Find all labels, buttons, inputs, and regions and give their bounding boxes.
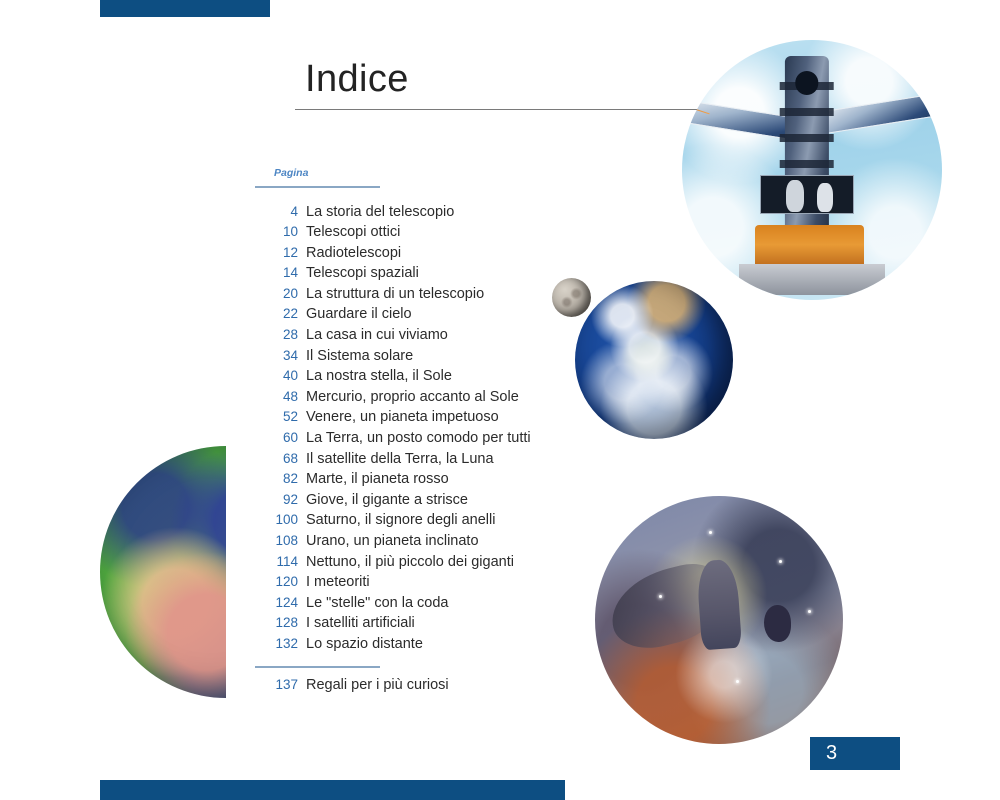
nebula-star-4 [808, 610, 811, 613]
toc-page-number: 68 [255, 451, 298, 466]
toc-entry-title: Regali per i più curiosi [306, 677, 449, 693]
toc-row[interactable]: 12Radiotelescopi [255, 245, 585, 266]
toc-entry-title: I meteoriti [306, 574, 370, 590]
toc-row[interactable]: 132Lo spazio distante [255, 636, 585, 657]
toc-row[interactable]: 60La Terra, un posto comodo per tutti [255, 430, 585, 451]
toc-page-number: 100 [255, 512, 298, 527]
page-title: Indice [305, 60, 409, 98]
toc-page-number: 12 [255, 245, 298, 260]
toc-entry-title: Telescopi spaziali [306, 265, 419, 281]
nebula-pillar [696, 559, 742, 651]
toc-row[interactable]: 40La nostra stella, il Sole [255, 368, 585, 389]
hubble-ring-4 [780, 160, 835, 169]
page-number-badge: 3 [810, 737, 900, 770]
toc-page-number: 22 [255, 306, 298, 321]
toc-page-number: 132 [255, 636, 298, 651]
toc-entry-title: La casa in cui viviamo [306, 327, 448, 343]
hubble-ring-2 [780, 108, 835, 117]
toc-entry-title: Telescopi ottici [306, 224, 400, 240]
toc-page-number: 82 [255, 471, 298, 486]
toc-page-number: 14 [255, 265, 298, 280]
moon-photo [552, 278, 591, 317]
hubble-shuttle-bay [739, 264, 885, 295]
toc-row[interactable]: 22Guardare il cielo [255, 306, 585, 327]
toc-page-number: 128 [255, 615, 298, 630]
toc-entry-title: I satelliti artificiali [306, 615, 415, 631]
nebula-star-1 [709, 531, 712, 534]
toc-row[interactable]: 10Telescopi ottici [255, 224, 585, 245]
hubble-space-telescope-photo [682, 40, 942, 300]
nebula-dark-globule [764, 605, 791, 642]
nebula-star-2 [779, 560, 782, 563]
toc-page-number: 60 [255, 430, 298, 445]
toc-entry-title: Guardare il cielo [306, 306, 412, 322]
toc-page-number: 28 [255, 327, 298, 342]
toc-row[interactable]: 34Il Sistema solare [255, 348, 585, 369]
astronaut-figure-b [817, 183, 833, 212]
toc-page-number: 34 [255, 348, 298, 363]
toc-row[interactable]: 20La struttura di un telescopio [255, 286, 585, 307]
toc-page-number: 120 [255, 574, 298, 589]
toc-row[interactable]: 120I meteoriti [255, 574, 585, 595]
hubble-panel-highlight [682, 103, 709, 114]
toc-entry-title: Le "stelle" con la coda [306, 595, 449, 611]
toc-entry-title: Marte, il pianeta rosso [306, 471, 449, 487]
toc-row[interactable]: 128I satelliti artificiali [255, 615, 585, 636]
toc-entry-title: Urano, un pianeta inclinato [306, 533, 479, 549]
hubble-cargo-bay [755, 225, 864, 269]
table-of-contents: Pagina 4La storia del telescopio10Telesc… [255, 168, 585, 697]
toc-row[interactable]: 108Urano, un pianeta inclinato [255, 533, 585, 554]
toc-page-number: 4 [255, 204, 298, 219]
nebula-photo [595, 496, 843, 744]
toc-row[interactable]: 48Mercurio, proprio accanto al Sole [255, 389, 585, 410]
toc-entry-title: Venere, un pianeta impetuoso [306, 409, 499, 425]
toc-row[interactable]: 4La storia del telescopio [255, 204, 585, 225]
earth-photo [575, 281, 733, 439]
toc-entry-title: La Terra, un posto comodo per tutti [306, 430, 531, 446]
page-column-rule [255, 186, 380, 188]
toc-row[interactable]: 28La casa in cui viviamo [255, 327, 585, 348]
toc-entry-title: Mercurio, proprio accanto al Sole [306, 389, 519, 405]
toc-row[interactable]: 14Telescopi spaziali [255, 265, 585, 286]
toc-page-number: 114 [255, 554, 298, 569]
toc-row[interactable]: 68Il satellite della Terra, la Luna [255, 451, 585, 472]
toc-appendix-list: 137Regali per i più curiosi [255, 677, 585, 698]
toc-entry-title: La struttura di un telescopio [306, 286, 484, 302]
toc-page-number: 52 [255, 409, 298, 424]
toc-entry-title: Radiotelescopi [306, 245, 401, 261]
decorative-bar-bottom [100, 780, 565, 800]
title-underline-rule [295, 109, 720, 110]
toc-row[interactable]: 137Regali per i più curiosi [255, 677, 585, 698]
toc-row[interactable]: 100Saturno, il signore degli anelli [255, 512, 585, 533]
toc-row[interactable]: 82Marte, il pianeta rosso [255, 471, 585, 492]
hubble-ring-3 [780, 134, 835, 143]
toc-row[interactable]: 124Le "stelle" con la coda [255, 595, 585, 616]
toc-entry-title: Giove, il gigante a strisce [306, 492, 468, 508]
toc-entry-title: Il satellite della Terra, la Luna [306, 451, 494, 467]
toc-entry-title: Lo spazio distante [306, 636, 423, 652]
toc-row[interactable]: 92Giove, il gigante a strisce [255, 492, 585, 513]
nebula-star-5 [736, 680, 739, 683]
toc-page-number: 124 [255, 595, 298, 610]
toc-page-number: 108 [255, 533, 298, 548]
toc-row[interactable]: 114Nettuno, il più piccolo dei giganti [255, 554, 585, 575]
toc-entry-title: Nettuno, il più piccolo dei giganti [306, 554, 514, 570]
astronaut-figure-a [786, 180, 804, 211]
toc-page-number: 40 [255, 368, 298, 383]
page-number-value: 3 [826, 742, 837, 765]
toc-entry-list: 4La storia del telescopio10Telescopi ott… [255, 204, 585, 657]
toc-entry-title: Saturno, il signore degli anelli [306, 512, 495, 528]
toc-page-number: 10 [255, 224, 298, 239]
toc-page-number: 20 [255, 286, 298, 301]
toc-page-number: 48 [255, 389, 298, 404]
toc-appendix-separator [255, 666, 380, 668]
page-column-label: Pagina [274, 168, 585, 179]
hubble-instrument-bay [760, 175, 854, 214]
toc-entry-title: La storia del telescopio [306, 204, 454, 220]
toc-page-number: 92 [255, 492, 298, 507]
toc-entry-title: Il Sistema solare [306, 348, 413, 364]
toc-row[interactable]: 52Venere, un pianeta impetuoso [255, 409, 585, 430]
decorative-bar-top [100, 0, 270, 17]
toc-page-number: 137 [255, 677, 298, 692]
toc-entry-title: La nostra stella, il Sole [306, 368, 452, 384]
